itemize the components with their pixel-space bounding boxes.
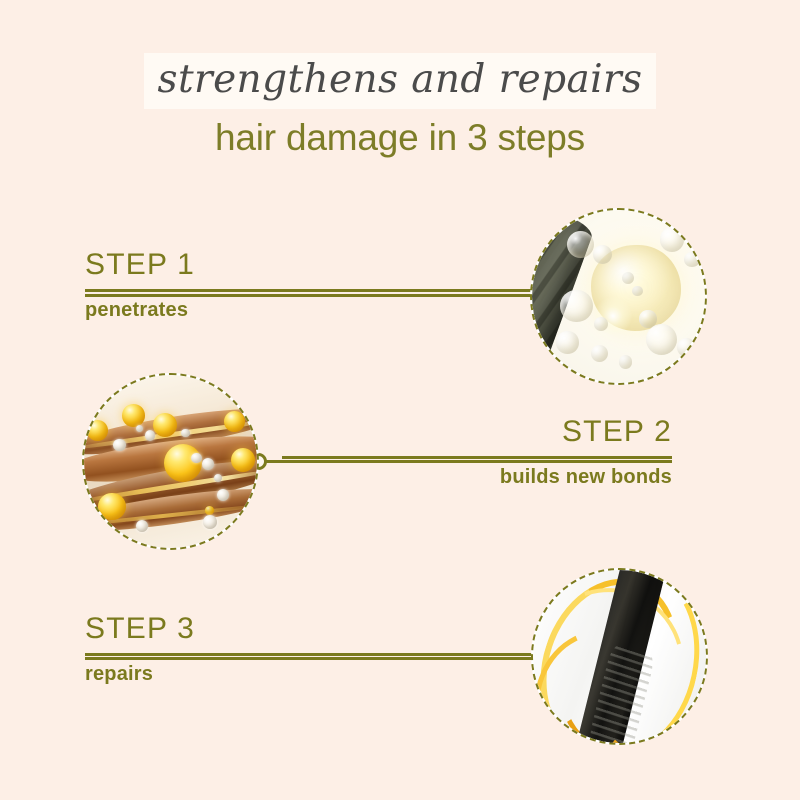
page-title: strengthens and repairs [158,57,643,103]
step-2-text-block: STEP 2 builds new bonds [282,415,672,489]
step-2-image [84,375,257,548]
step-1-image-circle [530,208,707,385]
title-highlight-band: strengthens and repairs [0,53,800,109]
step-1-image [532,210,705,383]
step-1-rule [85,289,535,292]
step-2-image-circle [82,373,259,550]
title-band-bg: strengthens and repairs [144,53,657,109]
step-3-image [533,570,706,743]
step-3-description: repairs [85,662,535,686]
step-3-title: STEP 3 [85,612,535,646]
step-3-connector-line [85,657,545,660]
step-3-rule [85,653,535,656]
step-3-image-circle [531,568,708,745]
page-subtitle: hair damage in 3 steps [0,116,800,160]
step-2-title: STEP 2 [282,415,672,449]
step-2-connector-line [265,460,672,463]
step-1-description: penetrates [85,298,535,322]
step-1-connector-line [85,294,540,297]
step-1-title: STEP 1 [85,248,535,282]
step-2-rule [282,456,672,459]
step-1-text-block: STEP 1 penetrates [85,248,535,322]
step-3-text-block: STEP 3 repairs [85,612,535,686]
infographic-canvas: strengthens and repairs hair damage in 3… [0,0,800,800]
step-2-description: builds new bonds [282,465,672,489]
